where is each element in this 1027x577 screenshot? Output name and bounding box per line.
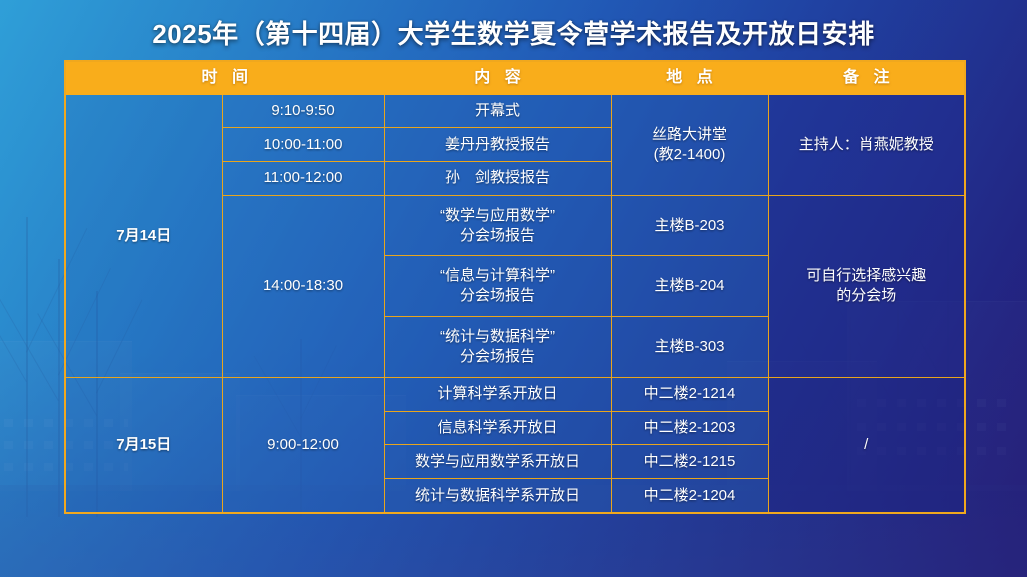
cell-venue-b303: 主楼B-303 bbox=[611, 317, 768, 378]
cell-venue-2-1214: 中二楼2-1214 bbox=[611, 377, 768, 411]
cell-time-1100: 11:00-12:00 bbox=[222, 161, 384, 195]
schedule-table: 时 间 内 容 地 点 备 注 7月14日 9:10-9:50 开幕式 丝路大讲… bbox=[64, 60, 966, 514]
schedule-table-container: 时 间 内 容 地 点 备 注 7月14日 9:10-9:50 开幕式 丝路大讲… bbox=[64, 60, 964, 514]
column-header-note: 备 注 bbox=[768, 61, 965, 94]
slide-canvas: 2025年（第十四届）大学生数学夏令营学术报告及开放日安排 时 间 内 容 地 … bbox=[0, 0, 1027, 577]
cell-date-day2: 7月15日 bbox=[65, 377, 222, 513]
note-line-1: 可自行选择感兴趣 bbox=[773, 266, 961, 286]
cell-content-jiangdandan: 姜丹丹教授报告 bbox=[384, 128, 611, 162]
tree-silhouette bbox=[26, 217, 28, 517]
cell-content-openday-info: 信息科学系开放日 bbox=[384, 411, 611, 445]
cell-content-session-stats: “统计与数据科学” 分会场报告 bbox=[384, 317, 611, 378]
cell-content-openday-computing: 计算科学系开放日 bbox=[384, 377, 611, 411]
tree-silhouette bbox=[58, 259, 60, 517]
table-row: 7月15日 9:00-12:00 计算科学系开放日 中二楼2-1214 / bbox=[65, 377, 965, 411]
session-subtitle: 分会场报告 bbox=[389, 347, 607, 367]
session-subtitle: 分会场报告 bbox=[389, 286, 607, 306]
cell-venue-b203: 主楼B-203 bbox=[611, 195, 768, 256]
table-header: 时 间 内 容 地 点 备 注 bbox=[65, 61, 965, 94]
cell-note-free-choice: 可自行选择感兴趣 的分会场 bbox=[768, 195, 965, 377]
table-body: 7月14日 9:10-9:50 开幕式 丝路大讲堂 (教2-1400) 主持人：… bbox=[65, 94, 965, 513]
cell-content-openday-stats: 统计与数据科学系开放日 bbox=[384, 478, 611, 513]
column-header-venue: 地 点 bbox=[611, 61, 768, 94]
session-title: “统计与数据科学” bbox=[389, 327, 607, 347]
column-header-time: 时 间 bbox=[65, 61, 384, 94]
cell-content-session-math: “数学与应用数学” 分会场报告 bbox=[384, 195, 611, 256]
cell-date-day1: 7月14日 bbox=[65, 94, 222, 377]
cell-venue-b204: 主楼B-204 bbox=[611, 256, 768, 317]
cell-content-sunjian: 孙 剑教授报告 bbox=[384, 161, 611, 195]
session-subtitle: 分会场报告 bbox=[389, 226, 607, 246]
venue-room: (教2-1400) bbox=[616, 145, 764, 165]
cell-time-afternoon: 14:00-18:30 bbox=[222, 195, 384, 377]
cell-content-session-info: “信息与计算科学” 分会场报告 bbox=[384, 256, 611, 317]
header-row: 时 间 内 容 地 点 备 注 bbox=[65, 61, 965, 94]
session-title: “信息与计算科学” bbox=[389, 266, 607, 286]
cell-venue-2-1204: 中二楼2-1204 bbox=[611, 478, 768, 513]
cell-venue-morning: 丝路大讲堂 (教2-1400) bbox=[611, 94, 768, 195]
note-line-2: 的分会场 bbox=[773, 286, 961, 306]
cell-venue-2-1203: 中二楼2-1203 bbox=[611, 411, 768, 445]
column-header-content: 内 容 bbox=[384, 61, 611, 94]
cell-time-0910: 9:10-9:50 bbox=[222, 94, 384, 128]
cell-time-1000: 10:00-11:00 bbox=[222, 128, 384, 162]
cell-time-day2: 9:00-12:00 bbox=[222, 377, 384, 513]
cell-content-opening: 开幕式 bbox=[384, 94, 611, 128]
cell-note-day2: / bbox=[768, 377, 965, 513]
cell-content-openday-math: 数学与应用数学系开放日 bbox=[384, 445, 611, 479]
table-row: 7月14日 9:10-9:50 开幕式 丝路大讲堂 (教2-1400) 主持人：… bbox=[65, 94, 965, 128]
venue-name: 丝路大讲堂 bbox=[616, 125, 764, 145]
cell-note-host: 主持人：肖燕妮教授 bbox=[768, 94, 965, 195]
page-title: 2025年（第十四届）大学生数学夏令营学术报告及开放日安排 bbox=[0, 14, 1027, 51]
session-title: “数学与应用数学” bbox=[389, 206, 607, 226]
cell-venue-2-1215: 中二楼2-1215 bbox=[611, 445, 768, 479]
